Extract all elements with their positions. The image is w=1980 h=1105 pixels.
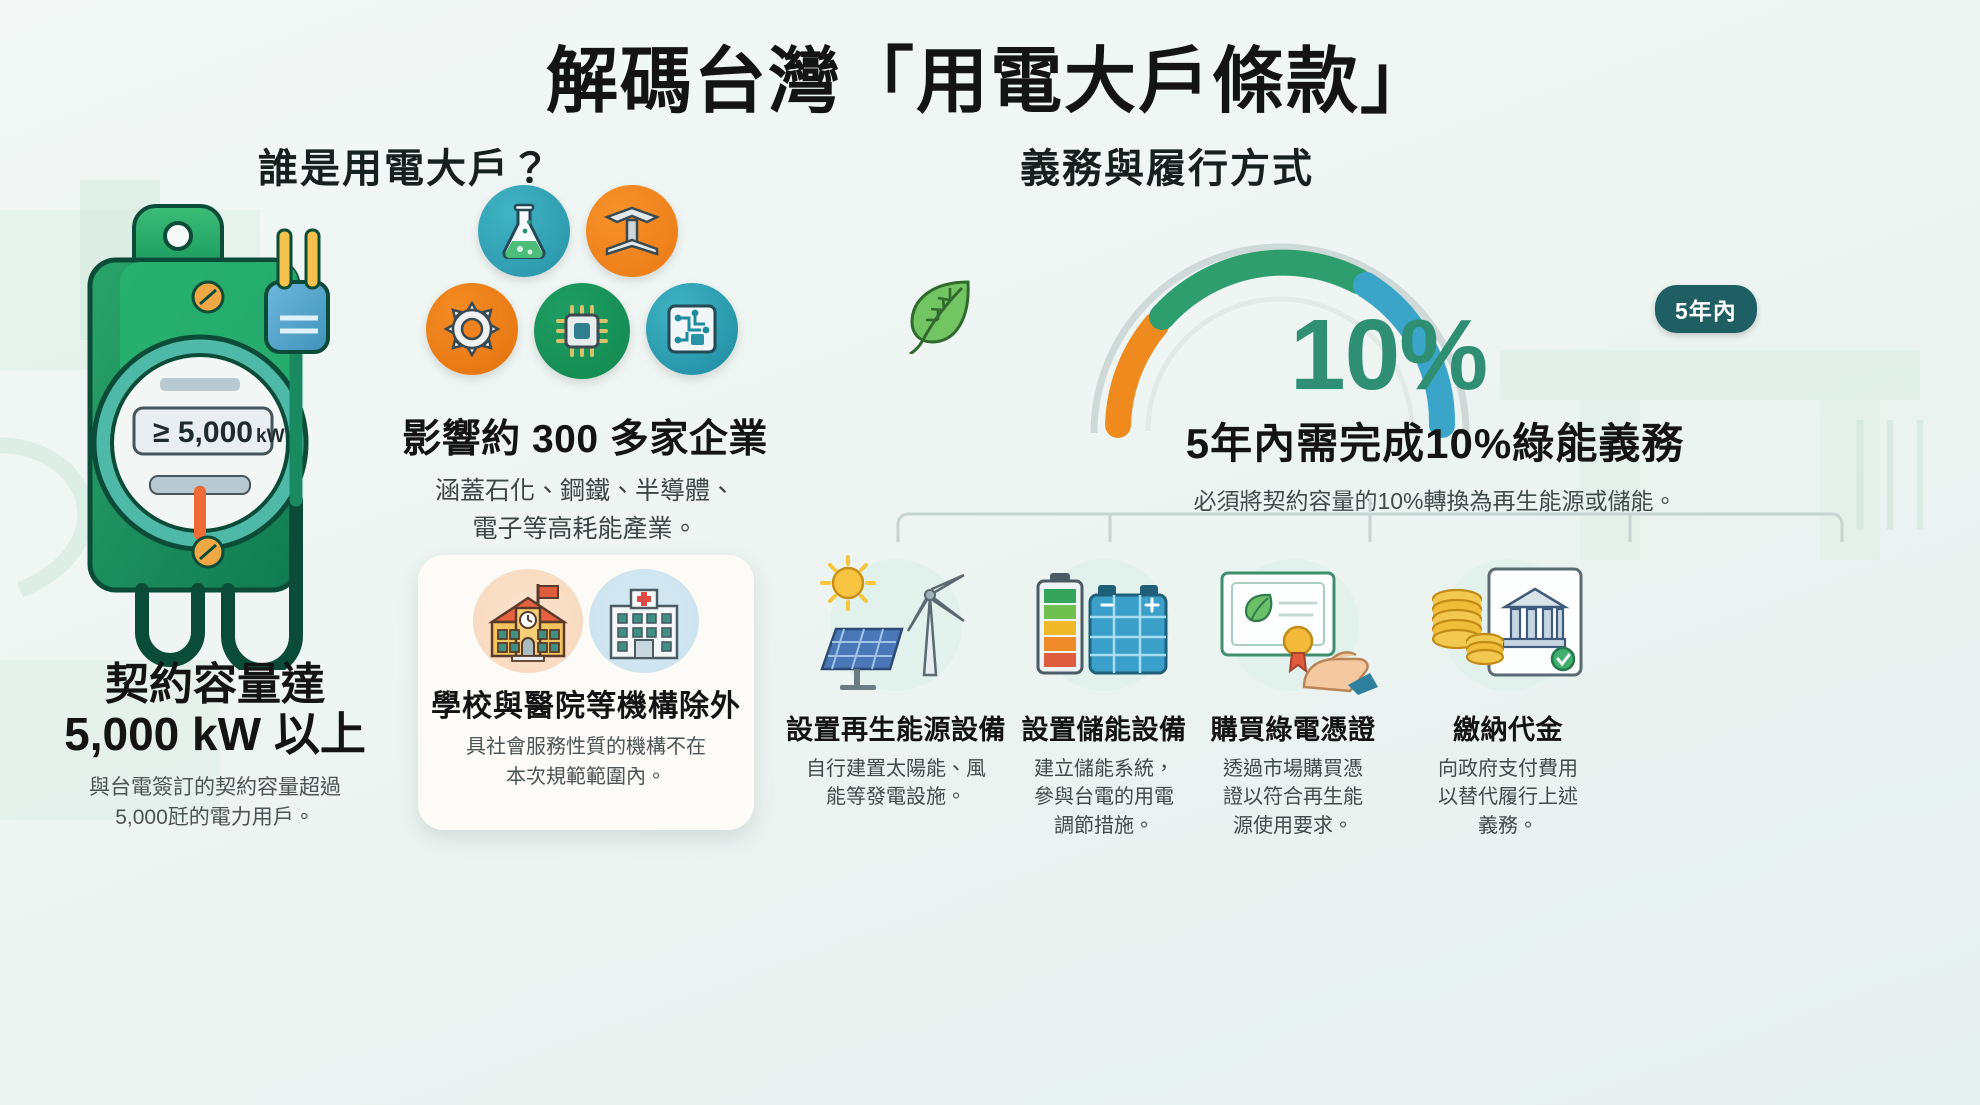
hospital-icon bbox=[601, 580, 687, 662]
contract-capacity-line2: 5,000 kW 以上 bbox=[40, 709, 390, 761]
method-desc-line: 自行建置太陽能、風 bbox=[780, 755, 1012, 783]
method-desc-line: 向政府支付費用 bbox=[1392, 755, 1624, 783]
exemption-card: 學校與醫院等機構除外 具社會服務性質的機構不在 本次規範範圍內。 bbox=[418, 555, 754, 830]
method-desc: 透過市場購買憑 證以符合再生能 源使用要求。 bbox=[1168, 755, 1418, 840]
leaf-icon bbox=[898, 272, 980, 354]
industry-circle-electronics bbox=[646, 283, 738, 375]
electric-meter-illustration: ≥ 5,000 kW bbox=[78, 200, 408, 670]
page-title: 解碼台灣「用電大戶條款」 bbox=[0, 22, 1980, 127]
industry-circle-petrochemical bbox=[478, 185, 570, 277]
impact-sub-line-2: 電子等高耗能產業。 bbox=[400, 511, 770, 549]
method-card-renewable: 設置再生能源設備 自行建置太陽能、風 能等發電設施。 bbox=[780, 550, 1012, 812]
exemption-sub-line-1: 具社會服務性質的機構不在 bbox=[466, 732, 706, 762]
method-desc-line: 義務。 bbox=[1392, 812, 1624, 840]
industry-circle-semiconductor bbox=[534, 283, 630, 379]
method-title: 購買綠電憑證 bbox=[1168, 708, 1418, 747]
steel-beam-icon bbox=[603, 205, 661, 257]
chip-icon bbox=[553, 302, 611, 360]
method-desc: 向政府支付費用 以替代履行上述 義務。 bbox=[1392, 755, 1624, 840]
infographic-page: 解碼台灣「用電大戶條款」 誰是用電大戶？ 義務與履行方式 bbox=[0, 0, 1980, 1105]
timeframe-badge: 5年內 bbox=[1655, 285, 1757, 333]
meter-reading-unit: kW bbox=[256, 426, 285, 447]
method-desc-line: 源使用要求。 bbox=[1168, 812, 1418, 840]
method-desc-line: 證以符合再生能 bbox=[1168, 783, 1418, 811]
meter-reading-value: ≥ 5,000 bbox=[153, 416, 253, 449]
industry-icon-cluster bbox=[418, 185, 758, 385]
method-card-payment: 繳納代金 向政府支付費用 以替代履行上述 義務。 bbox=[1392, 550, 1624, 840]
coins-bank-icon-wrap bbox=[1421, 550, 1596, 700]
impact-headline: 影響約 300 多家企業 bbox=[400, 408, 770, 464]
industry-circle-manufacturing bbox=[426, 283, 518, 375]
method-desc-line: 透過市場購買憑 bbox=[1168, 755, 1418, 783]
method-title: 設置再生能源設備 bbox=[780, 708, 1012, 747]
school-icon-badge bbox=[473, 569, 583, 673]
impact-sub: 涵蓋石化、鋼鐵、半導體、 電子等高耗能產業。 bbox=[400, 473, 770, 548]
gauge-value-label: 10% bbox=[1290, 298, 1487, 413]
method-desc-line: 能等發電設施。 bbox=[780, 783, 1012, 811]
gear-icon bbox=[444, 301, 500, 357]
sub-line-1: 與台電簽訂的契約容量超過 bbox=[40, 773, 390, 803]
solar-wind-icon bbox=[812, 555, 980, 695]
impact-sub-line-1: 涵蓋石化、鋼鐵、半導體、 bbox=[400, 473, 770, 511]
methods-list: 設置再生能源設備 自行建置太陽能、風 能等發電設施。 bbox=[770, 530, 1970, 870]
exemption-icons bbox=[473, 569, 699, 673]
method-card-certificate: 購買綠電憑證 透過市場購買憑 證以符合再生能 源使用要求。 bbox=[1168, 550, 1418, 840]
solar-wind-icon-wrap bbox=[809, 550, 984, 700]
coins-bank-icon bbox=[1423, 555, 1593, 695]
exemption-title: 學校與醫院等機構除外 bbox=[431, 681, 741, 725]
school-icon bbox=[482, 580, 574, 662]
flask-icon bbox=[498, 203, 550, 259]
contract-capacity-sub: 與台電簽訂的契約容量超過 5,000瓩的電力用戶。 bbox=[40, 773, 390, 834]
hospital-icon-badge bbox=[589, 569, 699, 673]
who-headline-block: 契約容量達 5,000 kW 以上 與台電簽訂的契約容量超過 5,000瓩的電力… bbox=[40, 660, 390, 834]
battery-storage-icon bbox=[1024, 555, 1184, 695]
impact-text-block: 影響約 300 多家企業 涵蓋石化、鋼鐵、半導體、 電子等高耗能產業。 bbox=[400, 408, 770, 548]
circuit-board-icon bbox=[665, 302, 719, 356]
sub-line-2: 5,000瓩的電力用戶。 bbox=[40, 803, 390, 833]
section-heading-duty: 義務與履行方式 bbox=[1020, 136, 1314, 194]
certificate-icon-wrap bbox=[1206, 550, 1381, 700]
contract-capacity-line1: 契約容量達 bbox=[40, 660, 390, 709]
method-desc-line: 以替代履行上述 bbox=[1392, 783, 1624, 811]
exemption-sub-line-2: 本次規範範圍內。 bbox=[466, 762, 706, 792]
duty-headline: 5年內需完成10%綠能義務 bbox=[930, 410, 1940, 471]
exemption-sub: 具社會服務性質的機構不在 本次規範範圍內。 bbox=[466, 732, 706, 792]
method-desc: 自行建置太陽能、風 能等發電設施。 bbox=[780, 755, 1012, 812]
method-title: 繳納代金 bbox=[1392, 708, 1624, 747]
certificate-icon bbox=[1208, 555, 1378, 695]
industry-circle-steel bbox=[586, 185, 678, 277]
battery-storage-icon-wrap bbox=[1017, 550, 1192, 700]
